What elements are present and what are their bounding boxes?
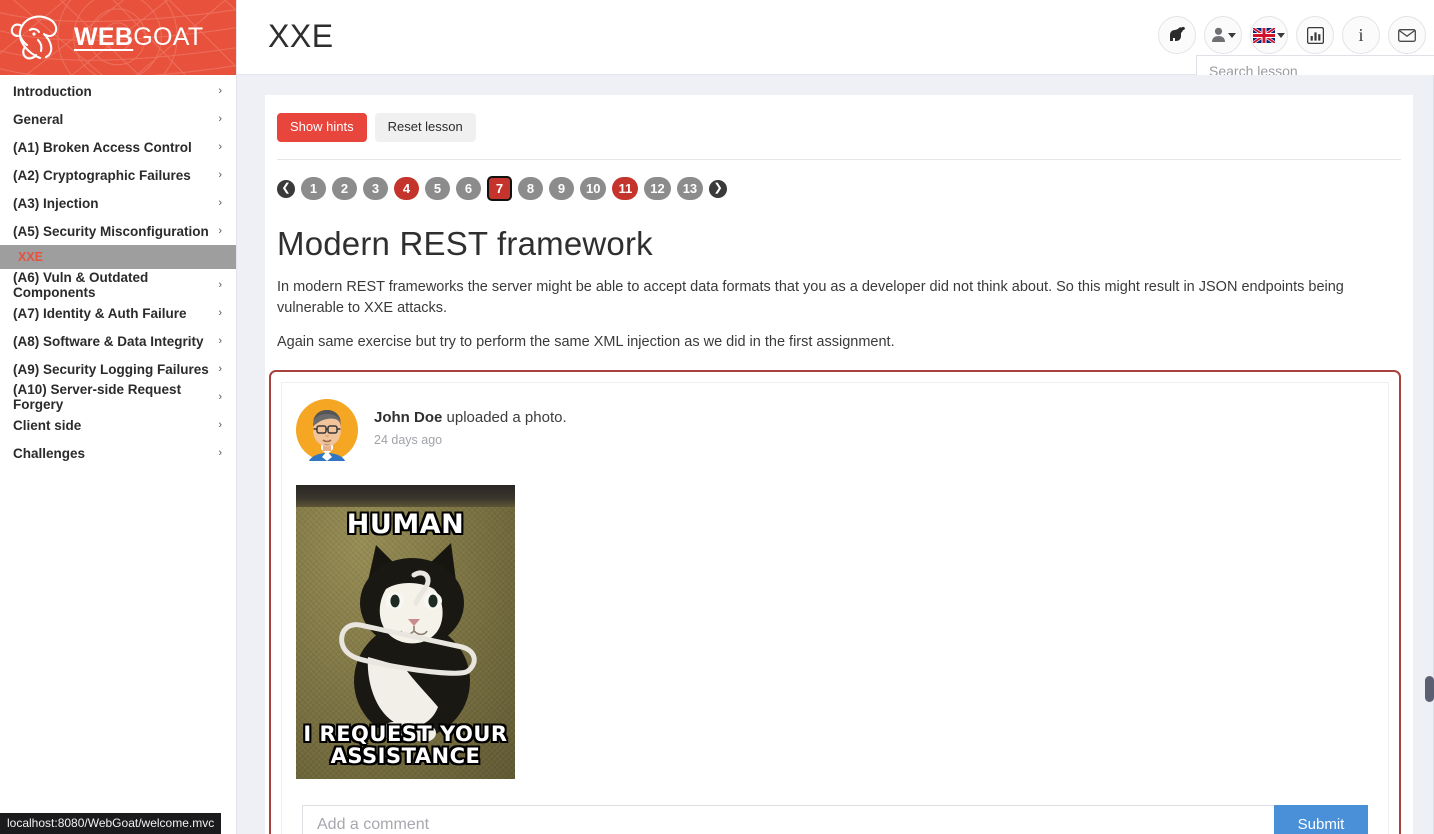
comment-row: Submit (296, 799, 1374, 834)
info-glyph-icon: i (1358, 26, 1363, 44)
chevron-right-icon: › (218, 391, 222, 403)
lesson-paragraph-2: Again same exercise but try to perform t… (265, 318, 1413, 353)
pager-page-7[interactable]: 7 (487, 176, 512, 201)
post-meta: John Doe uploaded a photo. 24 days ago (374, 399, 567, 447)
sidebar-item-label: Client side (13, 418, 81, 433)
pager-page-10[interactable]: 10 (580, 177, 606, 200)
sidebar-item-label: Challenges (13, 446, 85, 461)
info-icon[interactable]: i (1342, 16, 1380, 54)
post-text: John Doe uploaded a photo. (374, 409, 567, 426)
post-header: John Doe uploaded a photo. 24 days ago (296, 399, 1374, 461)
sidebar-item-label: (A3) Injection (13, 196, 99, 211)
pager-page-3[interactable]: 3 (363, 177, 388, 200)
sidebar-item-label: (A1) Broken Access Control (13, 140, 192, 155)
lesson-paragraph-1: In modern REST frameworks the server mig… (265, 263, 1413, 318)
lesson-pagination: ❮ 12345678910111213 ❯ (265, 160, 1413, 201)
sidebar-item-label: (A5) Security Misconfiguration (13, 224, 209, 239)
flag-uk-icon[interactable] (1250, 16, 1288, 54)
pager-prev-button[interactable]: ❮ (277, 180, 295, 198)
sidebar-nav-top: Introduction›General›(A1) Broken Access … (0, 75, 236, 245)
bar-chart-icon[interactable] (1296, 16, 1334, 54)
uk-flag-glyph-icon (1253, 28, 1275, 43)
post-timestamp: 24 days ago (374, 433, 567, 447)
chevron-right-icon: › (218, 447, 222, 459)
brand-wordmark: WEBGOAT (74, 25, 203, 50)
user-icon[interactable] (1204, 16, 1242, 54)
show-hints-button[interactable]: Show hints (277, 113, 367, 142)
chevron-right-icon: › (218, 113, 222, 125)
vertical-scrollbar-thumb[interactable] (1425, 676, 1434, 702)
sidebar-item-a7-identity-auth-failure[interactable]: (A7) Identity & Auth Failure› (0, 299, 236, 327)
chevron-down-icon (1277, 33, 1285, 38)
sidebar-item-label: (A10) Server-side Request Forgery (13, 382, 218, 412)
post-author: John Doe (374, 409, 442, 426)
pager-next-button[interactable]: ❯ (709, 180, 727, 198)
sidebar-item-xxe-label: XXE (18, 250, 43, 264)
sidebar-item-a2-cryptographic-failures[interactable]: (A2) Cryptographic Failures› (0, 161, 236, 189)
assignment-box: John Doe uploaded a photo. 24 days ago (269, 370, 1401, 834)
sidebar-item-a8-software-data-integrity[interactable]: (A8) Software & Data Integrity› (0, 327, 236, 355)
sidebar-item-xxe[interactable]: XXE (0, 245, 236, 269)
post-action: uploaded a photo. (442, 409, 566, 426)
sidebar-item-label: General (13, 112, 63, 127)
sidebar-item-label: (A2) Cryptographic Failures (13, 168, 191, 183)
sidebar-nav-bottom: (A6) Vuln & Outdated Components›(A7) Ide… (0, 269, 236, 467)
top-header: XXE (237, 0, 1434, 75)
brand-web-text: WEB (74, 23, 133, 51)
header-icon-group: i (1158, 16, 1426, 54)
lesson-title: Modern REST framework (265, 201, 1413, 263)
pager-page-8[interactable]: 8 (518, 177, 543, 200)
pager-page-1[interactable]: 1 (301, 177, 326, 200)
user-glyph-icon (1211, 27, 1226, 43)
chevron-right-icon: › (218, 85, 222, 97)
sidebar-item-label: Introduction (13, 84, 92, 99)
sidebar-item-label: (A8) Software & Data Integrity (13, 334, 204, 349)
comment-input[interactable] (302, 805, 1274, 834)
sidebar-item-a9-security-logging-failures[interactable]: (A9) Security Logging Failures› (0, 355, 236, 383)
sidebar-item-introduction[interactable]: Introduction› (0, 77, 236, 105)
brand-goat-text: GOAT (133, 23, 203, 51)
lesson-card: Show hints Reset lesson ❮ 12345678910111… (265, 95, 1413, 834)
chevron-right-icon: › (218, 141, 222, 153)
sidebar-item-label: (A6) Vuln & Outdated Components (13, 270, 218, 300)
bar-chart-glyph-icon (1307, 27, 1324, 44)
main-content: Show hints Reset lesson ❮ 12345678910111… (237, 75, 1434, 834)
sidebar-item-general[interactable]: General› (0, 105, 236, 133)
pager-page-6[interactable]: 6 (456, 177, 481, 200)
lesson-toolbar: Show hints Reset lesson (265, 113, 1413, 142)
pager-page-11[interactable]: 11 (612, 177, 638, 200)
page-title: XXE (268, 18, 334, 55)
chevron-down-icon (1228, 33, 1236, 38)
goat-glyph-icon (1167, 26, 1187, 44)
sidebar-item-label: (A9) Security Logging Failures (13, 362, 209, 377)
chevron-right-icon: › (218, 363, 222, 375)
chevron-right-icon: › (218, 307, 222, 319)
pager-page-12[interactable]: 12 (644, 177, 670, 200)
status-bar-url: localhost:8080/WebGoat/welcome.mvc (0, 813, 221, 834)
goat-head-icon (8, 10, 68, 66)
chevron-right-icon: › (218, 225, 222, 237)
envelope-icon[interactable] (1388, 16, 1426, 54)
submit-button[interactable]: Submit (1274, 805, 1368, 834)
sidebar: WEBGOAT Introduction›General›(A1) Broken… (0, 0, 237, 834)
sidebar-item-a3-injection[interactable]: (A3) Injection› (0, 189, 236, 217)
envelope-glyph-icon (1398, 29, 1416, 42)
pager-page-list: 12345678910111213 (301, 176, 703, 201)
chevron-right-icon: › (218, 335, 222, 347)
sidebar-item-label: (A7) Identity & Auth Failure (13, 306, 187, 321)
meme-image: HUMAN I REQUEST YOUR ASSISTANCE (296, 485, 515, 779)
sidebar-item-a1-broken-access-control[interactable]: (A1) Broken Access Control› (0, 133, 236, 161)
goat-icon[interactable] (1158, 16, 1196, 54)
sidebar-item-a10-server-side-request-forgery[interactable]: (A10) Server-side Request Forgery› (0, 383, 236, 411)
chevron-right-icon: › (218, 279, 222, 291)
sidebar-item-a6-vuln-outdated-components[interactable]: (A6) Vuln & Outdated Components› (0, 271, 236, 299)
sidebar-item-a5-security-misconfiguration[interactable]: (A5) Security Misconfiguration› (0, 217, 236, 245)
reset-lesson-button[interactable]: Reset lesson (375, 113, 476, 142)
pager-page-2[interactable]: 2 (332, 177, 357, 200)
meme-bottom-text: I REQUEST YOUR ASSISTANCE (296, 724, 515, 767)
post-card: John Doe uploaded a photo. 24 days ago (281, 382, 1389, 834)
brand-header[interactable]: WEBGOAT (0, 0, 236, 75)
pager-page-9[interactable]: 9 (549, 177, 574, 200)
pager-page-4[interactable]: 4 (394, 177, 419, 200)
sidebar-item-challenges[interactable]: Challenges› (0, 439, 236, 467)
chevron-right-icon: › (218, 169, 222, 181)
pager-page-5[interactable]: 5 (425, 177, 450, 200)
chevron-right-icon: › (218, 419, 222, 431)
sidebar-item-client-side[interactable]: Client side› (0, 411, 236, 439)
pager-page-13[interactable]: 13 (677, 177, 703, 200)
chevron-right-icon: › (218, 197, 222, 209)
avatar (296, 399, 358, 461)
meme-top-text: HUMAN (296, 511, 515, 539)
